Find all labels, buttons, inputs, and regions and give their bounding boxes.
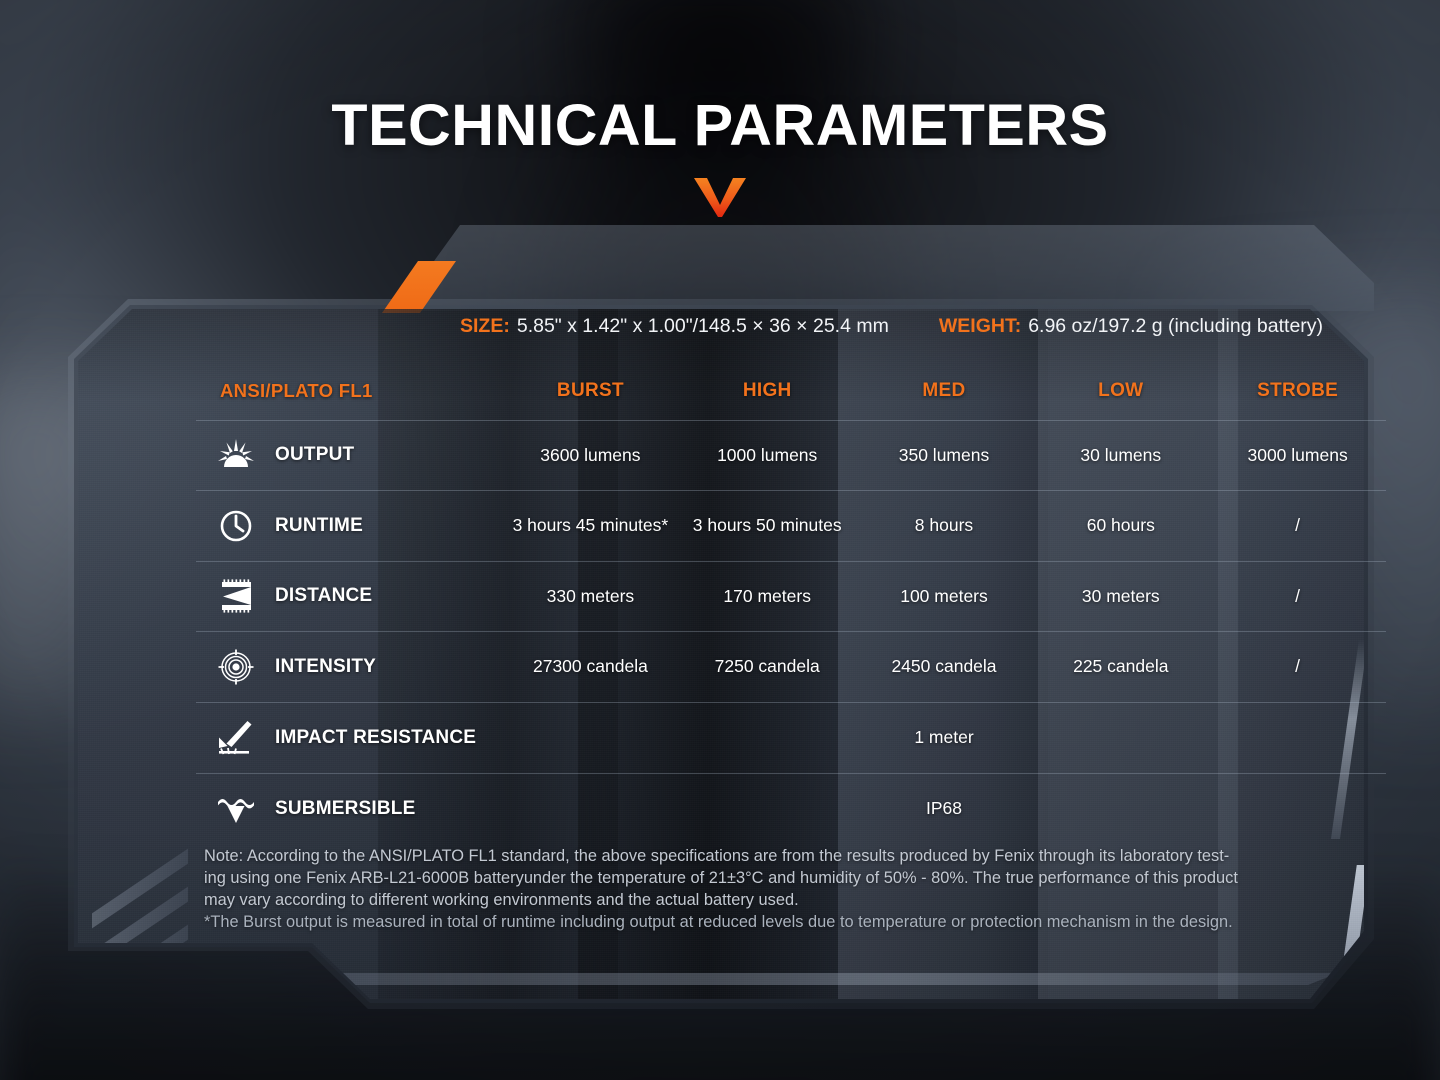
cell-output-med: 350 lumens [856,420,1033,491]
table-row: INTENSITY 27300 candela 7250 candela 245… [196,632,1386,703]
cell-intensity-high: 7250 candela [679,632,856,703]
row-label-runtime: RUNTIME [196,491,502,562]
cell-distance-low: 30 meters [1032,561,1209,632]
table-body: OUTPUT 3600 lumens 1000 lumens 350 lumen… [196,420,1386,844]
cell-runtime-burst: 3 hours 45 minutes* [502,491,679,562]
target-icon [214,647,258,687]
row-label-output: OUTPUT [196,420,502,491]
cell-distance-med: 100 meters [856,561,1033,632]
table-row: DISTANCE 330 meters 170 meters 100 meter… [196,561,1386,632]
beam-ruler-icon [214,576,258,616]
cell-runtime-low: 60 hours [1032,491,1209,562]
cell-impact-resistance-value: 1 meter [502,702,1386,773]
table-header: ANSI/PLATO FL1 BURST HIGH MED LOW STROBE [196,362,1386,420]
row-label-intensity: INTENSITY [196,632,502,703]
column-header-standard: ANSI/PLATO FL1 [196,362,502,420]
row-label-text: INTENSITY [275,656,376,678]
row-label-text: DISTANCE [275,585,372,607]
column-header-strobe: STROBE [1209,362,1386,420]
specifications-table: ANSI/PLATO FL1 BURST HIGH MED LOW STROBE [196,362,1386,844]
chevron-down-icon [693,176,747,223]
chevron-container [0,176,1440,223]
footnote-line-3: may vary according to different working … [204,890,1390,912]
sunburst-icon [214,435,258,475]
footnote-line-1: Note: According to the ANSI/PLATO FL1 st… [204,846,1390,868]
row-label-text: RUNTIME [275,515,363,537]
cell-distance-high: 170 meters [679,561,856,632]
impact-resistance-value-text: 1 meter [914,727,973,747]
row-label-submersible: SUBMERSIBLE [196,773,502,844]
cell-intensity-med: 2450 candela [856,632,1033,703]
weight-label: WEIGHT: [939,315,1021,338]
column-header-low: LOW [1032,362,1209,420]
cell-runtime-strobe: / [1209,491,1386,562]
table-row: IMPACT RESISTANCE 1 meter [196,702,1386,773]
cell-output-low: 30 lumens [1032,420,1209,491]
cell-distance-strobe: / [1209,561,1386,632]
size-spec: SIZE: 5.85" x 1.42" x 1.00"/148.5 × 36 ×… [460,315,889,338]
row-label-distance: DISTANCE [196,561,502,632]
page-title: TECHNICAL PARAMETERS [0,92,1440,159]
footnote: Note: According to the ANSI/PLATO FL1 st… [204,846,1390,934]
clock-icon [214,506,258,546]
table-row: RUNTIME 3 hours 45 minutes* 3 hours 50 m… [196,491,1386,562]
impact-icon [214,718,258,758]
footnote-line-2: ing using one Fenix ARB-L21-6000B batter… [204,868,1390,890]
cell-output-strobe: 3000 lumens [1209,420,1386,491]
cell-submersible-value: IP68 [502,773,1386,844]
panel-content: SIZE: 5.85" x 1.42" x 1.00"/148.5 × 36 ×… [68,225,1374,1009]
row-label-impact-resistance: IMPACT RESISTANCE [196,702,502,773]
size-value: 5.85" x 1.42" x 1.00"/148.5 × 36 × 25.4 … [517,315,889,338]
cell-runtime-high: 3 hours 50 minutes [679,491,856,562]
weight-value: 6.96 oz/197.2 g (including battery) [1028,315,1323,338]
size-weight-row: SIZE: 5.85" x 1.42" x 1.00"/148.5 × 36 ×… [460,310,1400,342]
column-header-burst: BURST [502,362,679,420]
submersible-icon [214,789,258,829]
table-row: SUBMERSIBLE IP68 [196,773,1386,844]
weight-spec: WEIGHT: 6.96 oz/197.2 g (including batte… [939,315,1323,338]
cell-output-high: 1000 lumens [679,420,856,491]
table-header-row: ANSI/PLATO FL1 BURST HIGH MED LOW STROBE [196,362,1386,420]
cell-intensity-burst: 27300 candela [502,632,679,703]
cell-output-burst: 3600 lumens [502,420,679,491]
table-row: OUTPUT 3600 lumens 1000 lumens 350 lumen… [196,420,1386,491]
row-label-text: IMPACT RESISTANCE [275,727,476,749]
cell-runtime-med: 8 hours [856,491,1033,562]
column-header-high: HIGH [679,362,856,420]
page-root: TECHNICAL PARAMETERS [0,0,1440,1080]
cell-distance-burst: 330 meters [502,561,679,632]
row-label-text: OUTPUT [275,444,354,466]
submersible-value-text: IP68 [926,798,962,818]
spec-panel: SIZE: 5.85" x 1.42" x 1.00"/148.5 × 36 ×… [68,225,1374,1009]
row-label-text: SUBMERSIBLE [275,798,416,820]
column-header-med: MED [856,362,1033,420]
footnote-line-4: *The Burst output is measured in total o… [204,912,1390,934]
cell-intensity-low: 225 candela [1032,632,1209,703]
size-label: SIZE: [460,315,510,338]
cell-intensity-strobe: / [1209,632,1386,703]
